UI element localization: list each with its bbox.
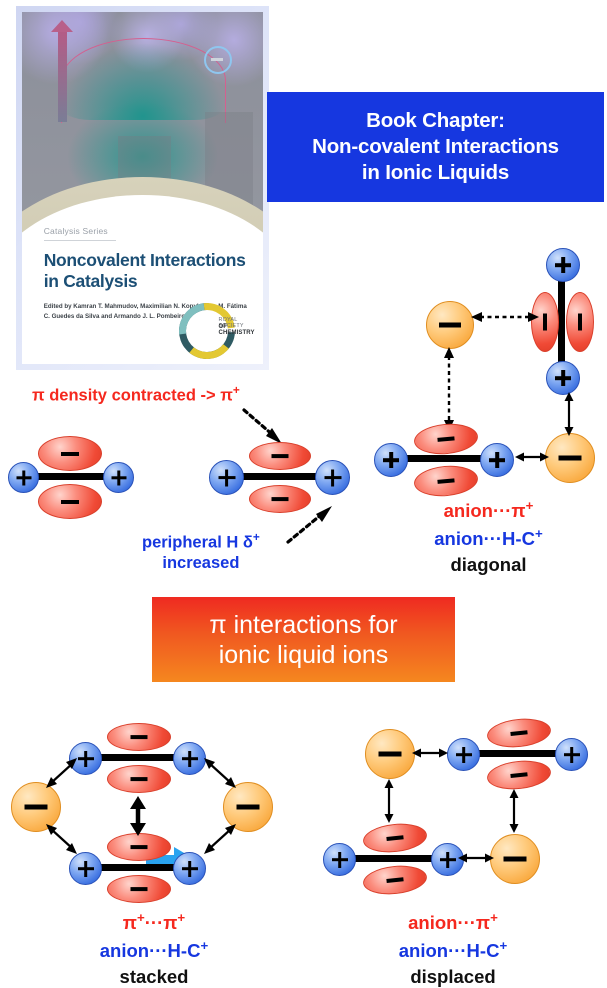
pi-lobe-negative (38, 436, 102, 471)
cation-sphere (103, 462, 134, 493)
molecule-horizontal-cation (63, 830, 213, 906)
panel-label-pi-pi: π+···π+ (8, 910, 300, 934)
pi-lobe-negative (38, 484, 102, 519)
pi-lobe-negative (413, 421, 479, 456)
interaction-arrow-anion-hc-lower (457, 850, 495, 866)
anion-sphere (545, 433, 595, 483)
pi-lobe-negative (362, 863, 429, 898)
cation-sphere (546, 248, 580, 282)
interaction-arrow-anion-pi-right (506, 788, 522, 834)
pi-lobe-negative (486, 716, 553, 751)
publisher-name-line2: OF CHEMISTRY (219, 324, 255, 336)
panel-caption-stacked: stacked (8, 966, 300, 988)
pi-lobe-negative (413, 463, 479, 498)
anion-sphere (365, 729, 415, 779)
cation-sphere (374, 443, 408, 477)
pi-lobe-negative (107, 875, 171, 903)
pointer-arrow-to-peripheral-h (284, 502, 348, 548)
anion-sphere (426, 301, 474, 349)
pi-box-line-1: π interactions for (209, 611, 397, 639)
ring-bond-bar (89, 864, 185, 871)
pi-lobe-negative (249, 442, 311, 470)
cation-sphere (209, 460, 244, 495)
annotation-peripheral-h-increased: peripheral H δ+ increased (142, 530, 260, 573)
anion-sphere (490, 834, 540, 884)
interaction-arrow-anion-hc-upper-right (202, 756, 238, 790)
pi-lobe-negative (362, 821, 429, 856)
molecule-horizontal-cation (370, 418, 520, 500)
panel-diagonal: anion···π+ anion···H-C+ diagonal (370, 248, 607, 588)
pi-lobe-negative (107, 833, 171, 861)
molecule-horizontal-cation (319, 824, 471, 896)
cation-sphere (8, 462, 39, 493)
interaction-arrow-anion-pi-horizontal (470, 309, 540, 325)
book-title: Noncovalent Interactions in Catalysis (44, 250, 249, 291)
title-line-1: Book Chapter: (366, 109, 505, 132)
interaction-arrow-anion-hc-horizontal (514, 449, 550, 465)
annotation-pi-density-contracted: π density contracted -> π+ (32, 383, 240, 406)
book-chapter-title-banner: Book Chapter: Non-covalent Interactions … (267, 92, 604, 202)
pi-box-line-2: ionic liquid ions (219, 641, 389, 669)
interaction-arrow-anion-pi-left (381, 778, 397, 824)
cation-sphere (69, 852, 102, 885)
interaction-arrow-anion-hc-upper-left (44, 756, 80, 790)
panel-label-anion-hc: anion···H-C+ (8, 938, 300, 962)
panel-stacked: π+···π+ anion···H-C+ stacked (8, 712, 300, 986)
ring-bond-bar (89, 754, 185, 761)
interaction-arrow-anion-hc-vertical (561, 391, 577, 437)
cation-sphere (480, 443, 514, 477)
interaction-arrow-anion-hc-lower-left (44, 822, 80, 856)
cation-sphere (323, 843, 356, 876)
pi-interactions-banner: π interactions for ionic liquid ions (152, 597, 455, 682)
royal-society-of-chemistry-logo: ROYAL SOCIETY OF CHEMISTRY (177, 297, 249, 353)
interaction-arrow-pi-pi-stacking (126, 796, 150, 836)
panel-label-anion-pi: anion···π+ (370, 498, 607, 522)
title-line-2: Non-covalent Interactions (312, 135, 559, 158)
molecule-horizontal-cation (63, 720, 213, 796)
mechanism-panel: π density contracted -> π+ (0, 382, 370, 592)
ring-bond-bar (344, 855, 442, 862)
panel-caption-displaced: displaced (305, 966, 601, 988)
ring-bond-bar (468, 750, 566, 757)
book-series-label: Catalysis Series (44, 226, 116, 241)
pi-lobe-negative (107, 765, 171, 793)
interaction-arrow-anion-hc-upper (411, 745, 449, 761)
panel-displaced: anion···π+ anion···H-C+ displaced (305, 712, 601, 986)
book-cover-image: Catalysis Series Noncovalent Interaction… (16, 6, 269, 370)
molecule-neutral-pi-system (2, 434, 137, 520)
interaction-arrow-anion-hc-lower-right (202, 822, 238, 856)
panel-label-anion-pi: anion···π+ (305, 910, 601, 934)
cation-sphere (315, 460, 350, 495)
cation-sphere (173, 852, 206, 885)
cation-sphere (555, 738, 588, 771)
molecule-horizontal-cation (443, 719, 595, 791)
ring-bond-bar (395, 455, 491, 462)
pi-lobe-negative (107, 723, 171, 751)
cation-sphere (447, 738, 480, 771)
pi-lobe-iodine-right (566, 292, 594, 352)
cation-sphere (546, 361, 580, 395)
panel-caption-diagonal: diagonal (370, 554, 607, 576)
panel-label-anion-hc: anion···H-C+ (305, 938, 601, 962)
panel-label-anion-hc: anion···H-C+ (370, 526, 607, 550)
title-line-3: in Ionic Liquids (362, 161, 509, 184)
ring-bond-bar (558, 274, 565, 368)
